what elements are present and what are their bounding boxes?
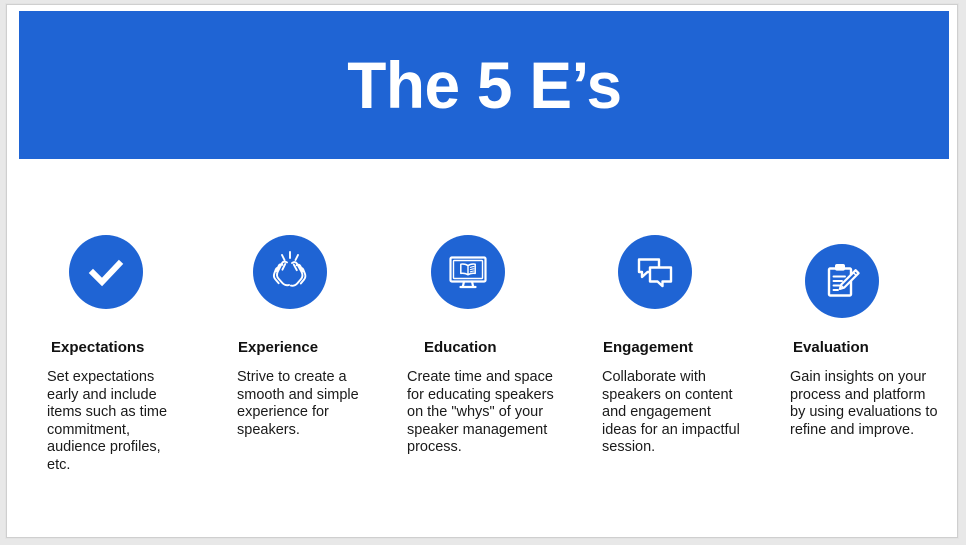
page-title: The 5 E’s — [347, 52, 621, 118]
column-heading: Experience — [238, 339, 377, 356]
five-es-columns: Expectations Set expectations early and … — [7, 235, 959, 525]
column-body: Collaborate with speakers on content and… — [602, 369, 748, 457]
column-education: Education Create time and space for educ… — [407, 235, 559, 457]
check-circle-icon — [69, 235, 143, 309]
column-body: Strive to create a smooth and simple exp… — [237, 369, 377, 439]
chat-bubbles-icon — [618, 235, 692, 309]
column-engagement: Engagement Collaborate with speakers on … — [602, 235, 748, 457]
column-body: Gain insights on your process and platfo… — [790, 369, 938, 439]
column-heading: Engagement — [603, 339, 748, 356]
column-evaluation: Evaluation Gain insights on your process… — [790, 235, 938, 439]
column-body: Set expectations early and include items… — [47, 369, 179, 474]
clapping-hands-icon — [253, 235, 327, 309]
column-heading: Expectations — [51, 339, 179, 356]
monitor-book-icon — [431, 235, 505, 309]
column-heading: Education — [424, 339, 559, 356]
slide-canvas: The 5 E’s Expectations Set expectations … — [6, 4, 958, 538]
column-body: Create time and space for educating spea… — [407, 369, 559, 457]
column-expectations: Expectations Set expectations early and … — [47, 235, 179, 474]
column-heading: Evaluation — [793, 339, 938, 356]
clipboard-pencil-icon — [805, 244, 879, 318]
title-banner: The 5 E’s — [19, 11, 949, 159]
column-experience: Experience Strive to create a smooth and… — [237, 235, 377, 439]
